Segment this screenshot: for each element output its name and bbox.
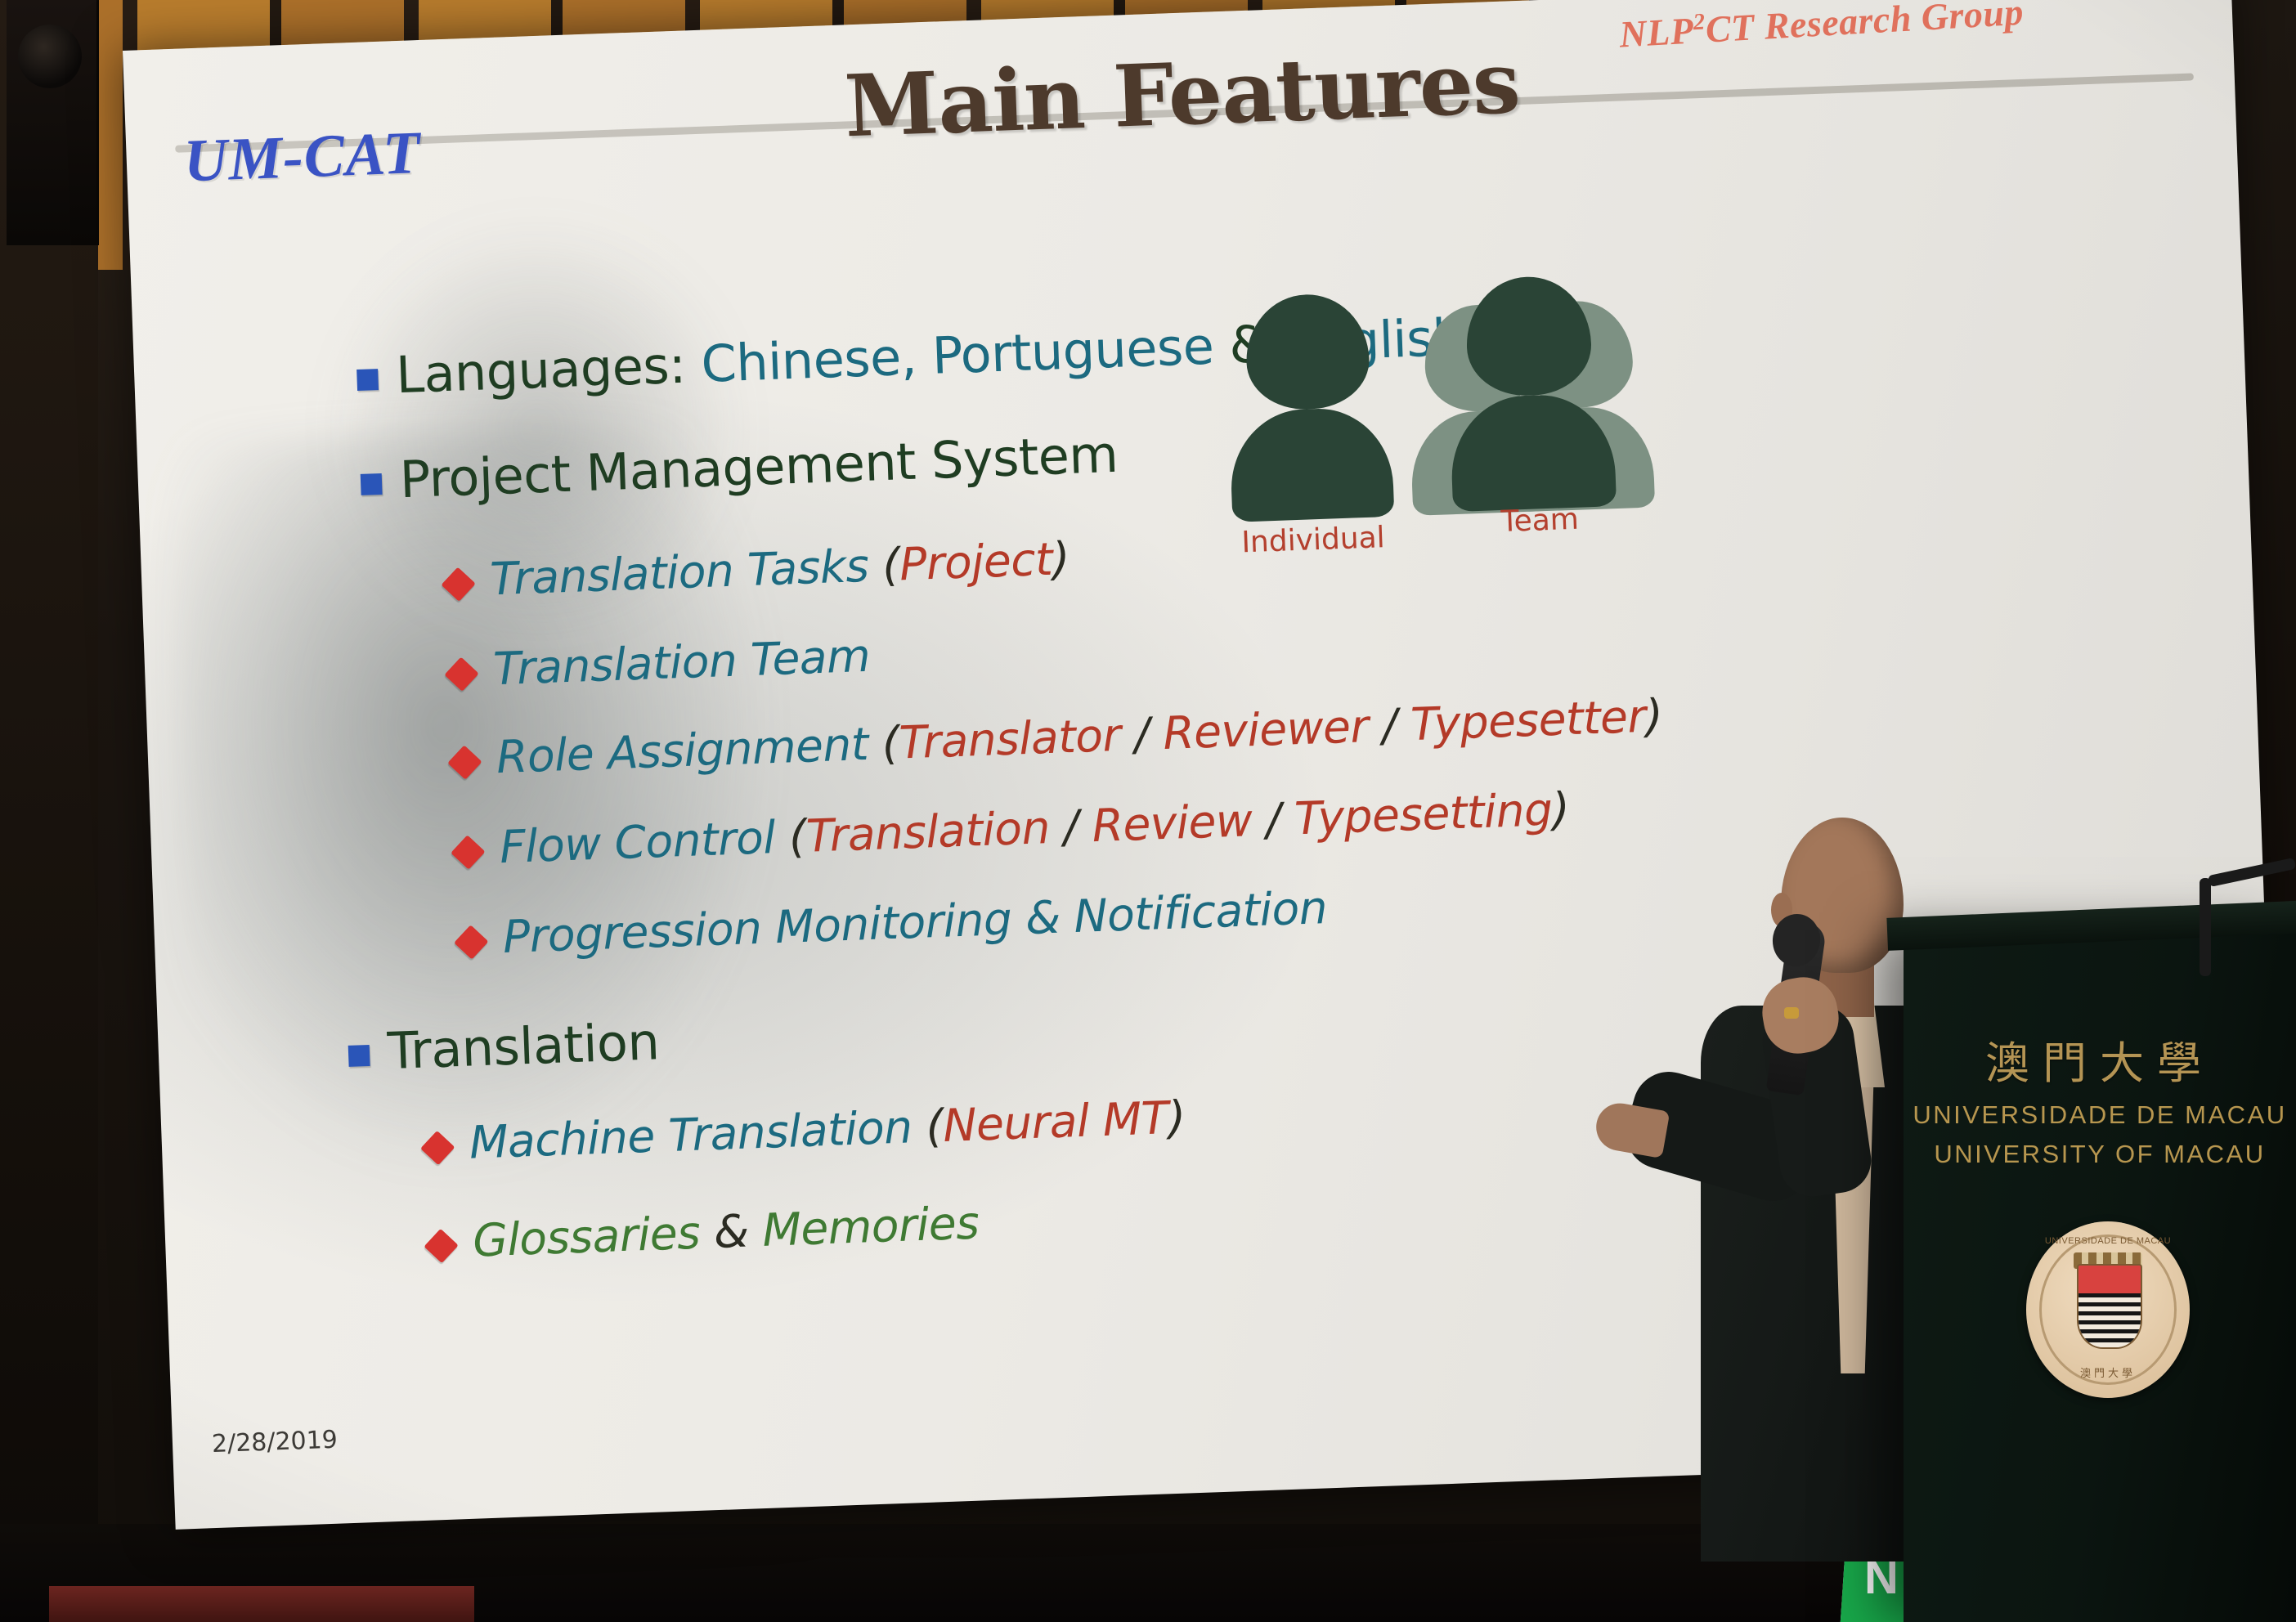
bullet-text-segment: Neural MT — [942, 1091, 1169, 1152]
person-body-shape — [1229, 406, 1395, 522]
bullet-text-segment: Glossaries — [472, 1206, 715, 1267]
diamond-bullet-icon — [454, 925, 488, 959]
bullet-text-segment: Role Assignment — [496, 717, 883, 783]
bullet-text-segment: ( — [925, 1100, 944, 1153]
bullet-text-segment: ) — [1551, 782, 1570, 836]
slide-title: Main Features — [843, 32, 1522, 156]
bullet-text-segment: Translation — [805, 801, 1051, 863]
bullet-text-segment: Translation — [387, 1011, 661, 1081]
bullet-item-level2: Translation Team — [448, 630, 871, 697]
bullet-text-segment: Translator — [898, 709, 1121, 769]
bullet-text-segment: / — [1367, 698, 1411, 752]
bullet-text-segment: Machine Translation — [469, 1100, 927, 1169]
seal-chinese-legend: 澳門大學 — [2026, 1364, 2190, 1380]
bullet-text-segment: ) — [1644, 689, 1663, 742]
person-head-shape — [1464, 275, 1593, 397]
team-icon-label: Team — [1500, 503, 1580, 539]
bullet-text-segment: Project — [899, 533, 1053, 591]
diamond-bullet-icon — [441, 567, 475, 602]
bullet-text-segment: Typesetting — [1294, 783, 1553, 845]
bullet-text-segment: ( — [881, 538, 900, 591]
bullet-text-segment: Progression Monitoring & Notification — [502, 881, 1328, 963]
seal-crest-waves — [2079, 1293, 2141, 1347]
bullet-text-segment: ) — [1167, 1091, 1186, 1144]
bullet-text-segment: / — [1049, 800, 1093, 854]
presentation-photo: UM-CAT Main Features NLP2CT Research Gro… — [0, 0, 2296, 1622]
bullet-text-segment: Reviewer — [1162, 700, 1369, 759]
university-seal: UNIVERSIDADE DE MACAU 澳門大學 — [2026, 1221, 2190, 1398]
bullet-text-segment: Chinese, Portuguese — [700, 316, 1230, 394]
team-front-person-icon — [1464, 275, 1597, 506]
research-group-prefix: NLP — [1618, 10, 1695, 56]
bullet-text-segment: Project Management System — [399, 424, 1119, 509]
ceiling-speaker — [7, 0, 99, 245]
presenter-ring — [1784, 1007, 1799, 1019]
bullet-item-level2: Progression Monitoring & Notification — [458, 881, 1328, 965]
bullet-text-segment: & — [713, 1204, 764, 1258]
bullet-text-segment: ) — [1052, 532, 1070, 585]
slide-date: 2/28/2019 — [211, 1426, 338, 1458]
bullet-item-level1: Translation — [348, 1011, 661, 1082]
bullet-text-segment: Flow Control — [499, 810, 790, 873]
bullet-text-segment: Translation Tasks — [489, 539, 883, 605]
bullet-text-segment: Languages: — [395, 334, 702, 405]
lectern-mic-post — [2200, 878, 2211, 976]
research-group-suffix: CT Research Group — [1705, 0, 2025, 51]
individual-person-icon — [1244, 293, 1375, 518]
square-bullet-icon — [348, 1045, 370, 1067]
square-bullet-icon — [361, 473, 383, 495]
seal-legend: UNIVERSIDADE DE MACAU — [2026, 1236, 2190, 1246]
bullet-text-segment: ( — [788, 810, 807, 863]
square-bullet-icon — [357, 369, 379, 391]
bullet-item-level2: Glossaries & Memories — [428, 1196, 980, 1268]
bullet-item-level2: Flow Control (Translation / Review / Typ… — [455, 782, 1570, 875]
diamond-bullet-icon — [424, 1229, 458, 1263]
person-head-shape — [1244, 293, 1371, 412]
diamond-bullet-icon — [447, 745, 482, 779]
lectern-chinese-name: 澳門大學 — [1928, 1027, 2271, 1091]
diamond-bullet-icon — [420, 1131, 455, 1165]
bullet-text-segment: Review — [1092, 794, 1253, 852]
lectern-portuguese-name: UNIVERSIDADE DE MACAU — [1912, 1100, 2288, 1130]
bullet-text-segment: ( — [881, 717, 900, 770]
seal-crest-shield — [2077, 1264, 2142, 1349]
person-body-shape — [1449, 392, 1617, 512]
bullet-text-segment: / — [1251, 792, 1295, 846]
diamond-bullet-icon — [444, 657, 478, 692]
bullet-item-level2: Machine Translation (Neural MT) — [424, 1091, 1186, 1170]
bullet-text-segment: Memories — [761, 1196, 980, 1256]
lectern-english-name: UNIVERSITY OF MACAU — [1912, 1140, 2288, 1169]
bullet-item-level2: Role Assignment (Translator / Reviewer /… — [451, 689, 1663, 785]
user-icons-group: Individual Team — [1195, 266, 1662, 560]
um-cat-logo: UM-CAT — [182, 119, 422, 196]
bullet-text-segment: Typesetter — [1410, 690, 1646, 751]
bullet-text-segment: Translation Team — [492, 630, 871, 695]
research-group-label: NLP2CT Research Group — [1618, 0, 2025, 56]
bullet-item-level2: Translation Tasks (Project) — [445, 532, 1070, 607]
bullet-item-level1: Project Management System — [360, 424, 1119, 511]
bullet-text-segment: / — [1119, 707, 1164, 761]
individual-icon-label: Individual — [1241, 521, 1386, 559]
diamond-bullet-icon — [451, 835, 485, 869]
lectern: 澳門大學 UNIVERSIDADE DE MACAU UNIVERSITY OF… — [1904, 930, 2296, 1622]
